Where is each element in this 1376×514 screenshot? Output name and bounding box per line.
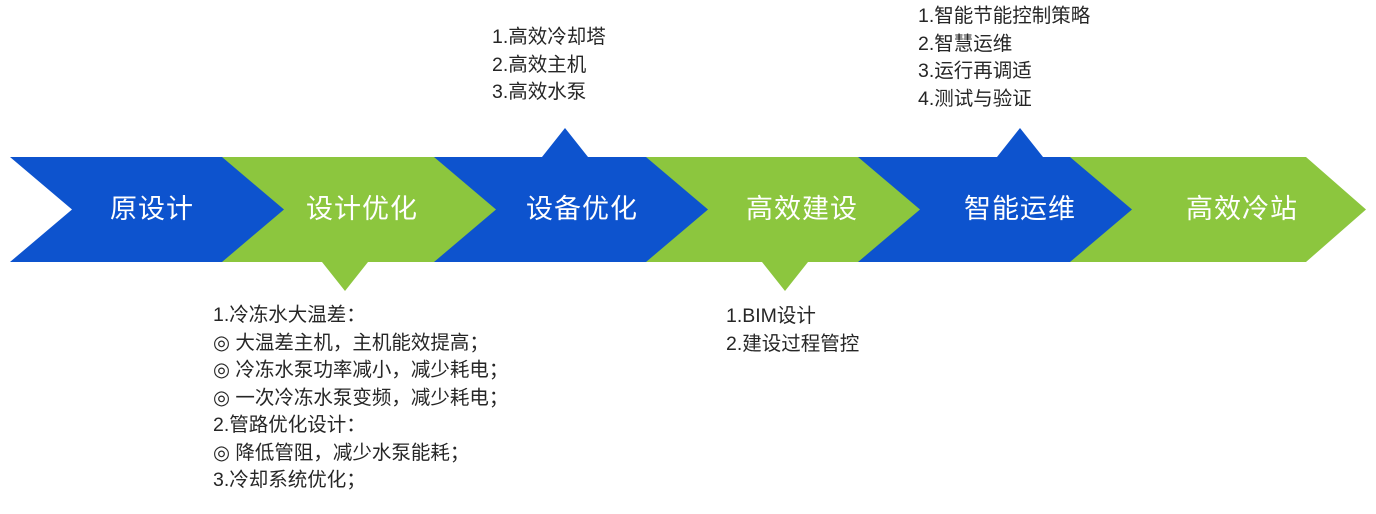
callout-design-optimization: 1.冷冻水大温差： ◎ 大温差主机，主机能效提高； ◎ 冷冻水泵功率减小，减少耗…	[213, 302, 508, 495]
callout-line: 2.高效主机	[492, 52, 606, 80]
callout-equipment-optimization: 1.高效冷却塔 2.高效主机 3.高效水泵	[492, 24, 606, 107]
callout-line: 2.智慧运维	[918, 31, 1090, 59]
callout-line: 3.高效水泵	[492, 79, 606, 107]
callout-line: 1.BIM设计	[726, 303, 859, 331]
callout-line: 1.冷冻水大温差：	[213, 302, 508, 330]
callout-line: ◎ 大温差主机，主机能效提高；	[213, 330, 508, 358]
callout-line: 3.冷却系统优化；	[213, 467, 508, 495]
process-diagram: 原设计 设计优化 设备优化 高效建设 智能运维 高效冷站 1.冷冻水大温差： ◎…	[0, 0, 1376, 514]
callout-line: 3.运行再调适	[918, 58, 1090, 86]
callout-line: 1.智能节能控制策略	[918, 3, 1090, 31]
callout-line: 1.高效冷却塔	[492, 24, 606, 52]
callout-line: ◎ 降低管阻，减少水泵能耗；	[213, 440, 508, 468]
callout-line: ◎ 一次冷冻水泵变频，减少耗电；	[213, 385, 508, 413]
callout-intelligent-operation: 1.智能节能控制策略 2.智慧运维 3.运行再调适 4.测试与验证	[918, 3, 1090, 113]
callout-line: 2.建设过程管控	[726, 331, 859, 359]
chevron-band	[0, 0, 1376, 514]
callout-line: 4.测试与验证	[918, 86, 1090, 114]
callout-line: ◎ 冷冻水泵功率减小，减少耗电；	[213, 357, 508, 385]
callout-line: 2.管路优化设计：	[213, 412, 508, 440]
callout-efficient-construction: 1.BIM设计 2.建设过程管控	[726, 303, 859, 358]
